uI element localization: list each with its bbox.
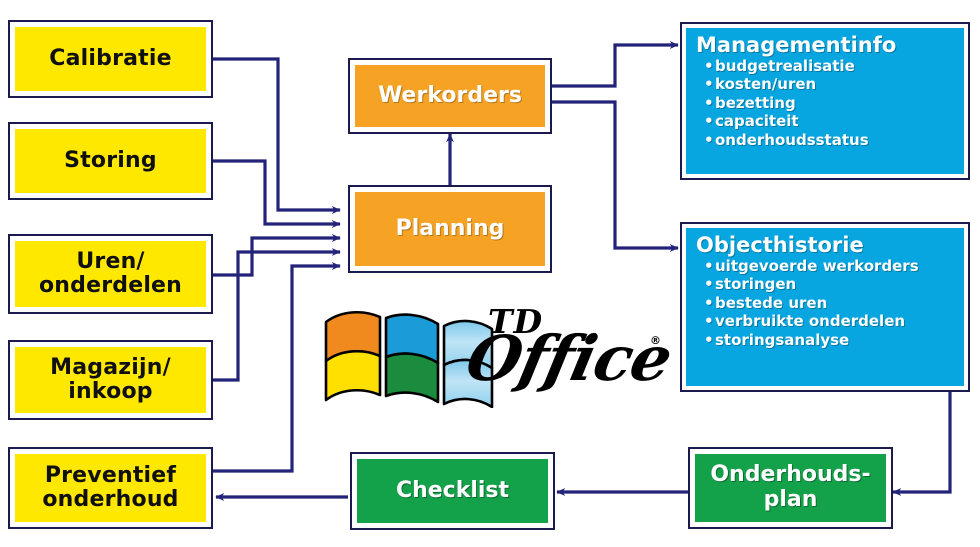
bullet-icon: • [704,75,715,93]
list-item: •capaciteit [704,112,869,130]
node-preventief-onderhoud-label-line2: onderhoud [42,488,178,512]
list-item: •kosten/uren [704,75,869,93]
list-item: •onderhoudsstatus [704,131,869,149]
node-magazijn-inkoop-label-line2: inkoop [68,380,152,404]
node-checklist[interactable]: Checklist [350,452,555,530]
list-item-label: storingen [715,275,796,293]
list-item: •budgetrealisatie [704,57,869,75]
node-managementinfo-title: Managementinfo [696,34,896,56]
bullet-icon: • [704,275,715,293]
bullet-icon: • [704,57,715,75]
bullet-icon: • [704,131,715,149]
node-calibratie[interactable]: Calibratie [8,20,213,98]
managementinfo-list: •budgetrealisatie •kosten/uren •bezettin… [696,57,869,149]
bullet-icon: • [704,294,715,312]
node-preventief-onderhoud[interactable]: Preventief onderhoud [8,447,213,529]
node-storing[interactable]: Storing [8,122,213,200]
bullet-icon: • [704,331,715,349]
node-uren-onderdelen[interactable]: Uren/ onderdelen [8,234,213,314]
node-storing-label: Storing [64,149,157,173]
list-item: •uitgevoerde werkorders [704,257,919,275]
node-uren-onderdelen-label-line2: onderdelen [39,274,182,298]
wire-objecthistorie-onderhoudsplan [893,392,950,492]
wire-werkorders-managementinfo [550,45,678,86]
node-werkorders-label: Werkorders [378,84,522,108]
node-planning[interactable]: Planning [348,185,552,273]
wire-calibratie-planning [212,59,340,210]
logo-registered-mark: ® [650,334,661,347]
wire-storing-planning [212,161,340,224]
wire-werkorders-objecthistorie [550,102,678,248]
node-onderhoudsplan-label-line1: Onderhouds- [710,463,870,488]
node-uren-onderdelen-label-line1: Uren/ [76,250,144,274]
wire-uren-planning [212,238,340,275]
node-magazijn-inkoop[interactable]: Magazijn/ inkoop [8,340,213,420]
list-item-label: bestede uren [715,294,827,312]
bullet-icon: • [704,312,715,330]
bullet-icon: • [704,112,715,130]
node-onderhoudsplan-label-line2: plan [764,488,818,513]
list-item-label: budgetrealisatie [715,57,855,75]
list-item-label: verbruikte onderdelen [715,312,905,330]
node-preventief-onderhoud-label-line1: Preventief [45,464,176,488]
bullet-icon: • [704,94,715,112]
node-objecthistorie-title: Objecthistorie [696,234,864,256]
list-item-label: uitgevoerde werkorders [715,257,919,275]
logo-office-text: Office [460,322,678,395]
list-item-label: capaciteit [715,112,799,130]
objecthistorie-list: •uitgevoerde werkorders •storingen •best… [696,257,919,349]
node-werkorders[interactable]: Werkorders [348,58,552,134]
node-planning-label: Planning [396,217,505,241]
list-item: •bezetting [704,94,869,112]
list-item-label: kosten/uren [715,75,816,93]
list-item: •storingsanalyse [704,331,919,349]
node-checklist-label: Checklist [396,479,509,504]
node-onderhoudsplan[interactable]: Onderhouds- plan [688,447,893,529]
node-calibratie-label: Calibratie [49,47,172,71]
node-magazijn-inkoop-label-line1: Magazijn/ [50,356,171,380]
list-item-label: storingsanalyse [715,331,849,349]
list-item: •verbruikte onderdelen [704,312,919,330]
node-managementinfo[interactable]: Managementinfo •budgetrealisatie •kosten… [680,22,970,180]
diagram-canvas: Calibratie Storing Uren/ onderdelen Maga… [0,0,980,547]
list-item-label: onderhoudsstatus [715,131,869,149]
list-item: •bestede uren [704,294,919,312]
node-objecthistorie[interactable]: Objecthistorie •uitgevoerde werkorders •… [680,222,970,392]
bullet-icon: • [704,257,715,275]
td-office-logo: TD Office ® [320,298,660,416]
list-item: •storingen [704,275,919,293]
list-item-label: bezetting [715,94,796,112]
